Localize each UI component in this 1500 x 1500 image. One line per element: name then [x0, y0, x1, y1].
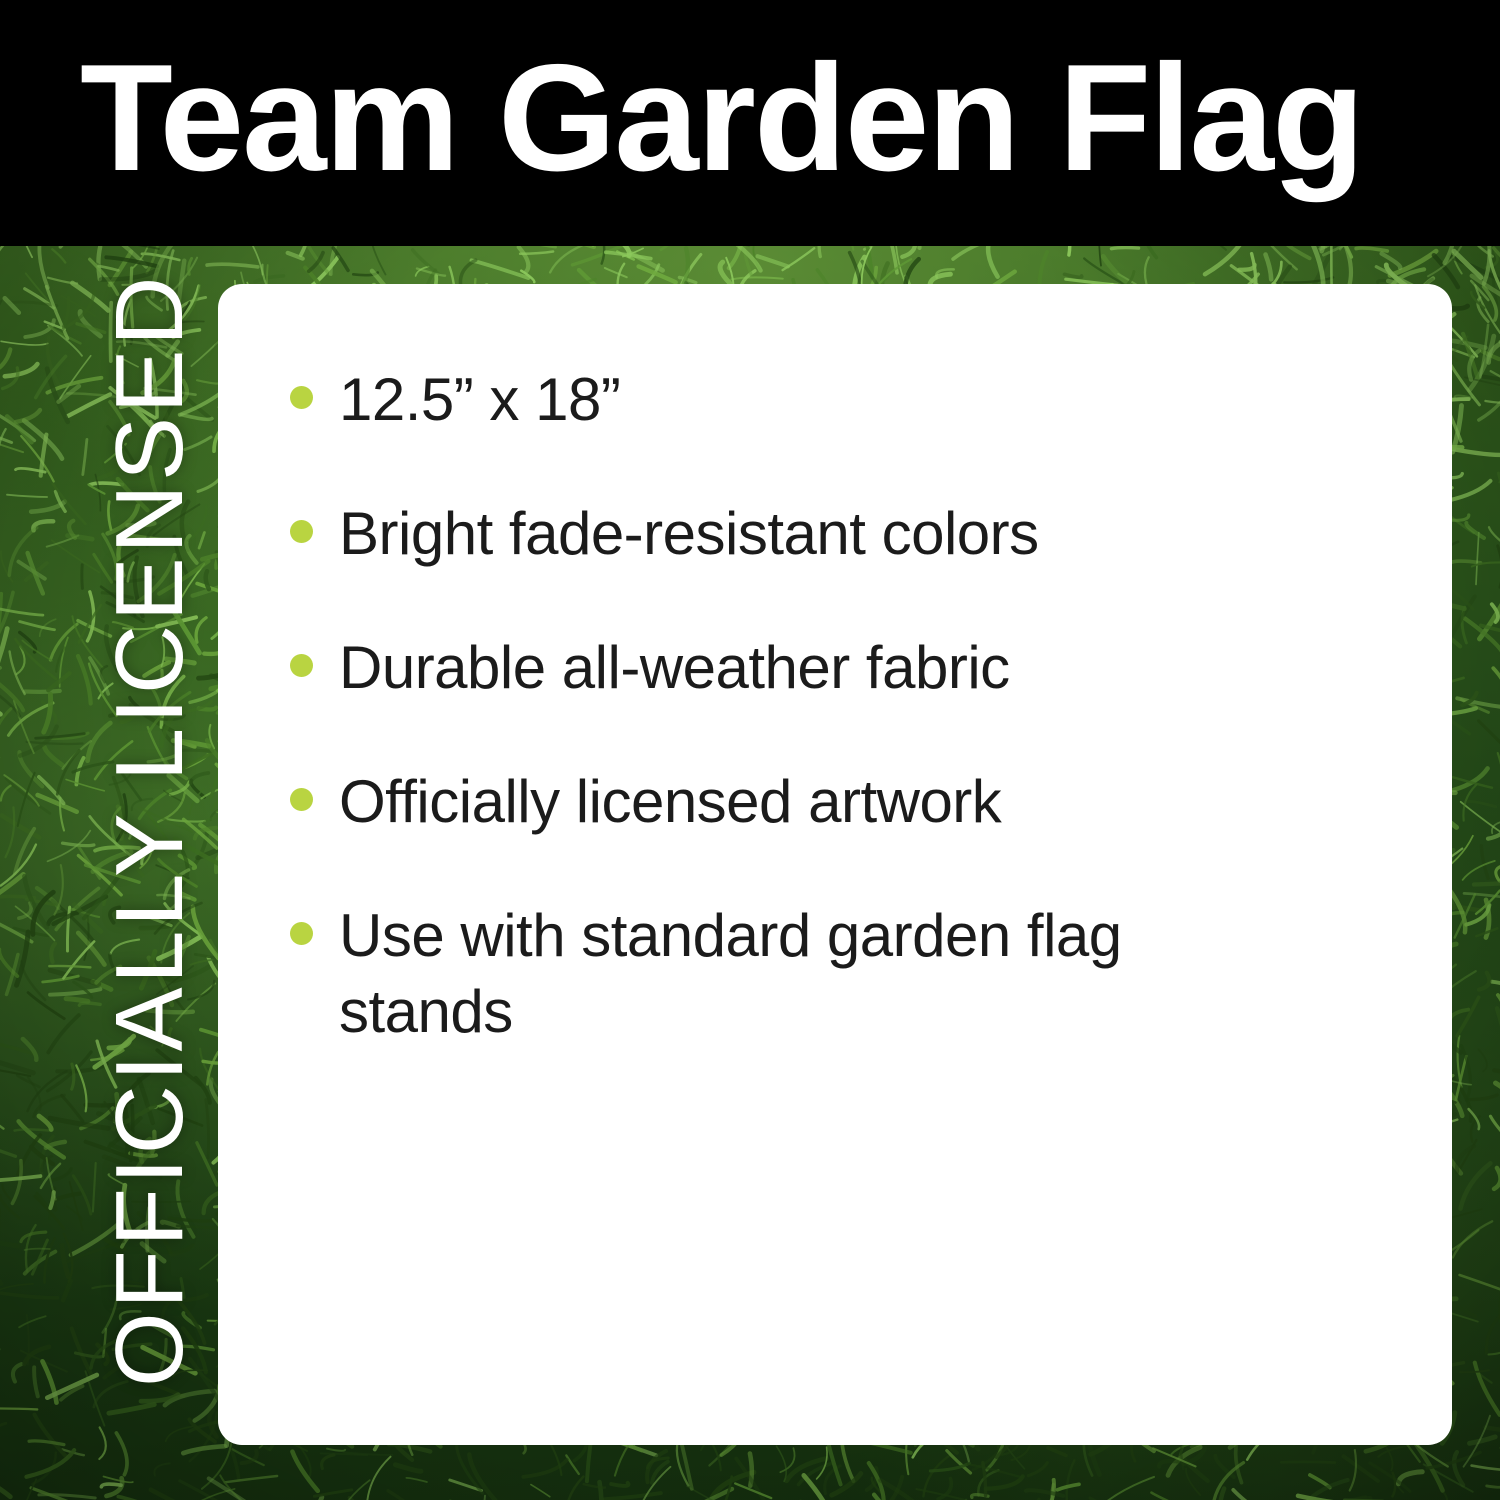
list-item: Durable all-weather fabric [290, 630, 1372, 706]
feature-card: 12.5” x 18” Bright fade-resistant colors… [218, 284, 1452, 1445]
bullet-dot-icon [290, 922, 313, 945]
feature-text: Officially licensed artwork [339, 764, 1001, 840]
list-item: 12.5” x 18” [290, 362, 1372, 438]
feature-text: Durable all-weather fabric [339, 630, 1010, 706]
feature-text: Use with standard garden flag stands [339, 898, 1159, 1050]
product-infographic: Team Garden Flag OFFICIALLY LICENSED 12.… [0, 0, 1500, 1500]
officially-licensed-text: OFFICIALLY LICENSED [95, 240, 205, 1420]
page-title: Team Garden Flag [80, 28, 1363, 208]
feature-list: 12.5” x 18” Bright fade-resistant colors… [290, 362, 1372, 1050]
officially-licensed-label: OFFICIALLY LICENSED [95, 240, 205, 1420]
list-item: Bright fade-resistant colors [290, 496, 1372, 572]
list-item: Officially licensed artwork [290, 764, 1372, 840]
feature-text: 12.5” x 18” [339, 362, 620, 438]
list-item: Use with standard garden flag stands [290, 898, 1372, 1050]
title-banner: Team Garden Flag [0, 0, 1500, 246]
bullet-dot-icon [290, 520, 313, 543]
bullet-dot-icon [290, 386, 313, 409]
bullet-dot-icon [290, 788, 313, 811]
bullet-dot-icon [290, 654, 313, 677]
feature-text: Bright fade-resistant colors [339, 496, 1039, 572]
